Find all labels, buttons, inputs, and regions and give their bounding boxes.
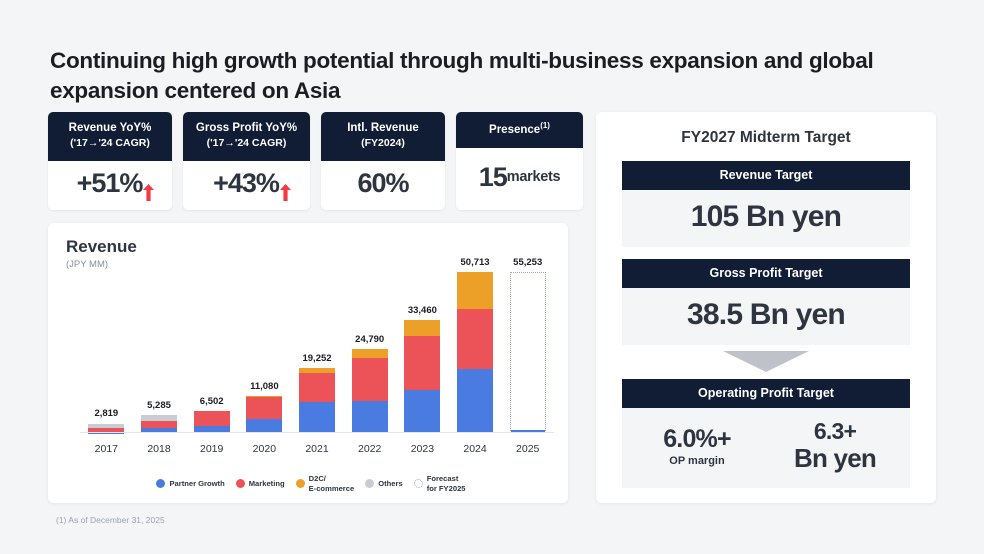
revenue-target-block[interactable]: Revenue Target 105 Bn yen	[622, 161, 910, 247]
x-axis-tick-label: 2024	[449, 443, 502, 455]
x-axis-tick-label: 2017	[80, 443, 133, 455]
legend-swatch-icon	[414, 479, 423, 488]
kpi-card-intl-revenue[interactable]: Intl. Revenue (FY2024) 60%	[321, 112, 445, 210]
kpi-body-gross-profit-yoy: +43%	[183, 161, 310, 210]
kpi-unit-presence: markets	[507, 169, 561, 185]
operating-profit-target-block[interactable]: Operating Profit Target 6.0%+ OP margin …	[622, 379, 910, 488]
kpi-body-intl-revenue: 60%	[321, 161, 445, 210]
bar-total-label: 19,252	[302, 353, 331, 364]
bar-total-label: 2,819	[94, 408, 118, 419]
bar-total-label: 6,502	[200, 396, 224, 407]
footnote: (1) As of December 31, 2025	[56, 515, 165, 525]
chart-plot-area: 2,8195,2856,50211,08019,25224,79033,4605…	[68, 239, 558, 457]
bar-column[interactable]: 11,080	[238, 257, 291, 433]
op-amount-line1: 6.3+	[766, 419, 904, 444]
bar-total-label: 50,713	[461, 257, 490, 268]
page-title: Continuing high growth potential through…	[50, 46, 930, 106]
x-axis-tick-label: 2023	[396, 443, 449, 455]
operating-profit-target-header: Operating Profit Target	[622, 379, 910, 408]
stacked-bar[interactable]	[299, 368, 335, 433]
legend-item[interactable]: D2C/E-commerce	[296, 474, 355, 493]
kpi-header-line2: (FY2024)	[327, 137, 439, 151]
bar-total-label: 24,790	[355, 334, 384, 345]
x-axis-tick-label: 2021	[291, 443, 344, 455]
kpi-header-line1: Intl. Revenue	[347, 122, 419, 134]
kpi-header-presence: Presence(1)	[456, 112, 583, 148]
stacked-bar[interactable]	[246, 396, 282, 433]
x-axis-tick-label: 2020	[238, 443, 291, 455]
stacked-bar[interactable]	[457, 272, 493, 433]
revenue-chart-panel: Revenue (JPY MM) 2,8195,2856,50211,08019…	[48, 223, 568, 503]
bar-segment	[246, 397, 282, 419]
gross-profit-target-header: Gross Profit Target	[622, 259, 910, 288]
kpi-header-line1: Gross Profit YoY%	[196, 122, 297, 134]
kpi-header-revenue-yoy: Revenue YoY% ('17→'24 CAGR)	[48, 112, 172, 161]
revenue-target-header: Revenue Target	[622, 161, 910, 190]
kpi-card-row: Revenue YoY% ('17→'24 CAGR) +51% Gross P…	[48, 112, 583, 210]
bar-column[interactable]: 24,790	[343, 257, 396, 433]
legend-label: D2C/E-commerce	[309, 474, 355, 493]
bar-segment	[352, 349, 388, 357]
stacked-bar[interactable]	[141, 415, 177, 433]
legend-swatch-icon	[156, 479, 165, 488]
kpi-card-revenue-yoy[interactable]: Revenue YoY% ('17→'24 CAGR) +51%	[48, 112, 172, 210]
stacked-bar[interactable]	[404, 320, 440, 433]
legend-swatch-icon	[365, 479, 374, 488]
kpi-value-intl-revenue: 60%	[357, 170, 408, 197]
slide-root: Continuing high growth potential through…	[0, 0, 984, 554]
bar-group: 2,8195,2856,50211,08019,25224,79033,4605…	[80, 257, 554, 433]
gross-profit-target-value: 38.5 Bn yen	[622, 288, 910, 345]
bar-column[interactable]: 50,713	[449, 257, 502, 433]
bar-total-label: 55,253	[513, 257, 542, 268]
bar-segment	[352, 401, 388, 433]
kpi-header-line2: ('17→'24 CAGR)	[54, 137, 166, 151]
bar-segment	[457, 309, 493, 369]
legend-label: Others	[378, 479, 402, 488]
x-axis-line	[80, 432, 554, 433]
legend-label: Forecastfor FY2025	[427, 474, 466, 493]
bar-segment	[141, 421, 177, 428]
x-axis-tick-label: 2019	[185, 443, 238, 455]
kpi-value-revenue-yoy: +51%	[77, 170, 143, 197]
bar-segment	[246, 419, 282, 433]
kpi-header-superscript: (1)	[540, 121, 550, 130]
midterm-target-panel: FY2027 Midterm Target Revenue Target 105…	[596, 112, 936, 503]
legend-label: Partner Growth	[169, 479, 224, 488]
bar-column[interactable]: 19,252	[291, 257, 344, 433]
op-amount-line2: Bn yen	[766, 444, 904, 474]
operating-profit-target-body: 6.0%+ OP margin 6.3+ Bn yen	[622, 408, 910, 488]
stacked-bar[interactable]	[352, 349, 388, 433]
kpi-header-intl-revenue: Intl. Revenue (FY2024)	[321, 112, 445, 161]
legend-label: Marketing	[249, 479, 285, 488]
midterm-target-title: FY2027 Midterm Target	[596, 112, 936, 161]
op-amount-column: 6.3+ Bn yen	[766, 419, 904, 474]
x-axis-labels: 201720182019202020212022202320242025	[80, 443, 554, 455]
forecast-bar[interactable]	[510, 272, 546, 433]
kpi-card-gross-profit-yoy[interactable]: Gross Profit YoY% ('17→'24 CAGR) +43%	[183, 112, 310, 210]
kpi-value-gross-profit-yoy: +43%	[213, 170, 279, 197]
bar-column[interactable]: 6,502	[185, 257, 238, 433]
arrow-down-icon	[596, 345, 936, 379]
legend-item[interactable]: Forecastfor FY2025	[414, 474, 466, 493]
bar-segment	[404, 320, 440, 336]
gross-profit-target-block[interactable]: Gross Profit Target 38.5 Bn yen	[622, 259, 910, 345]
legend-item[interactable]: Others	[365, 479, 402, 488]
x-axis-tick-label: 2018	[133, 443, 186, 455]
bar-segment	[299, 373, 335, 401]
bar-segment	[457, 369, 493, 433]
bar-segment	[194, 411, 230, 426]
legend-item[interactable]: Marketing	[236, 479, 285, 488]
bar-column[interactable]: 55,253	[501, 257, 554, 433]
legend-item[interactable]: Partner Growth	[156, 479, 224, 488]
kpi-value-presence: 15	[479, 164, 507, 191]
kpi-card-presence[interactable]: Presence(1) 15markets	[456, 112, 583, 210]
x-axis-tick-label: 2022	[343, 443, 396, 455]
kpi-header-line2: ('17→'24 CAGR)	[189, 137, 304, 151]
legend-swatch-icon	[236, 479, 245, 488]
bar-total-label: 33,460	[408, 305, 437, 316]
bar-segment	[404, 336, 440, 390]
bar-segment	[457, 272, 493, 309]
bar-segment	[352, 358, 388, 402]
bar-segment	[404, 390, 440, 433]
op-margin-value: 6.0%+	[628, 426, 766, 454]
bar-total-label: 5,285	[147, 400, 171, 411]
legend-swatch-icon	[296, 479, 305, 488]
kpi-header-gross-profit-yoy: Gross Profit YoY% ('17→'24 CAGR)	[183, 112, 310, 161]
op-margin-label: OP margin	[628, 455, 766, 467]
x-axis-tick-label: 2025	[501, 443, 554, 455]
op-margin-column: 6.0%+ OP margin	[628, 426, 766, 468]
chart-legend: Partner GrowthMarketingD2C/E-commerceOth…	[68, 474, 554, 493]
stacked-bar[interactable]	[194, 411, 230, 433]
kpi-body-revenue-yoy: +51%	[48, 161, 172, 210]
kpi-header-line1: Revenue YoY%	[69, 122, 152, 134]
bar-column[interactable]: 5,285	[133, 257, 186, 433]
bar-total-label: 11,080	[250, 381, 279, 392]
kpi-body-presence: 15markets	[456, 148, 583, 210]
revenue-target-value: 105 Bn yen	[622, 190, 910, 247]
bar-column[interactable]: 33,460	[396, 257, 449, 433]
bar-segment	[299, 402, 335, 433]
kpi-header-line1: Presence	[489, 124, 540, 136]
bar-column[interactable]: 2,819	[80, 257, 133, 433]
